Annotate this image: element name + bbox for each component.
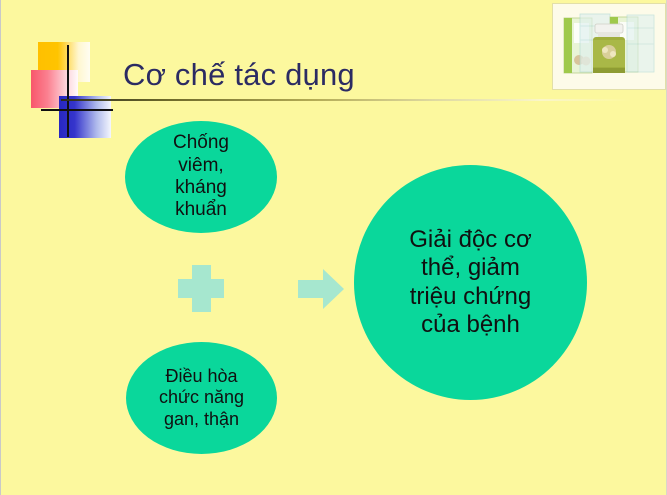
page-title: Cơ chế tác dụng <box>123 57 355 93</box>
crosshair-vertical-line <box>67 45 69 137</box>
product-photo-artwork <box>553 4 665 89</box>
plus-sign-icon: + <box>178 265 224 312</box>
bubble-line: thể, giảm <box>409 254 531 282</box>
bubble-line: viêm, <box>173 155 229 177</box>
right-arrow-shape <box>298 268 345 310</box>
slide-canvas: Cơ chế tác dụng <box>0 0 667 495</box>
bubble-result: Giải độc cơ thể, giảm triệu chứng của bệ… <box>354 165 587 400</box>
title-divider <box>61 99 661 101</box>
bubble-anti-inflammatory-label: Chống viêm, kháng khuẩn <box>167 132 235 222</box>
bubble-line: Chống <box>173 132 229 154</box>
bubble-anti-inflammatory: Chống viêm, kháng khuẩn <box>125 121 277 233</box>
bubble-line: chức năng <box>159 387 244 408</box>
bubble-line: triệu chứng <box>409 283 531 311</box>
bubble-organ-regulation-label: Điều hòa chức năng gan, thận <box>153 366 250 430</box>
bubble-line: gan, thận <box>159 409 244 430</box>
bubble-result-label: Giải độc cơ thể, giảm triệu chứng của bệ… <box>403 226 537 339</box>
right-arrow-icon: → <box>298 268 345 310</box>
bubble-line: Điều hòa <box>159 366 244 387</box>
bubble-line: của bệnh <box>409 311 531 339</box>
bubble-organ-regulation: Điều hòa chức năng gan, thận <box>126 342 277 454</box>
bubble-line: kháng <box>173 177 229 199</box>
bubble-line: Giải độc cơ <box>409 226 531 254</box>
plus-vertical-bar <box>192 265 211 312</box>
bubble-line: khuẩn <box>173 199 229 221</box>
crosshair-horizontal-line <box>41 109 113 111</box>
product-photo <box>552 3 666 90</box>
logo-mark-decoration <box>31 42 113 138</box>
plus-symbol-text: + <box>178 265 179 266</box>
arrow-symbol-text: → <box>298 310 299 311</box>
